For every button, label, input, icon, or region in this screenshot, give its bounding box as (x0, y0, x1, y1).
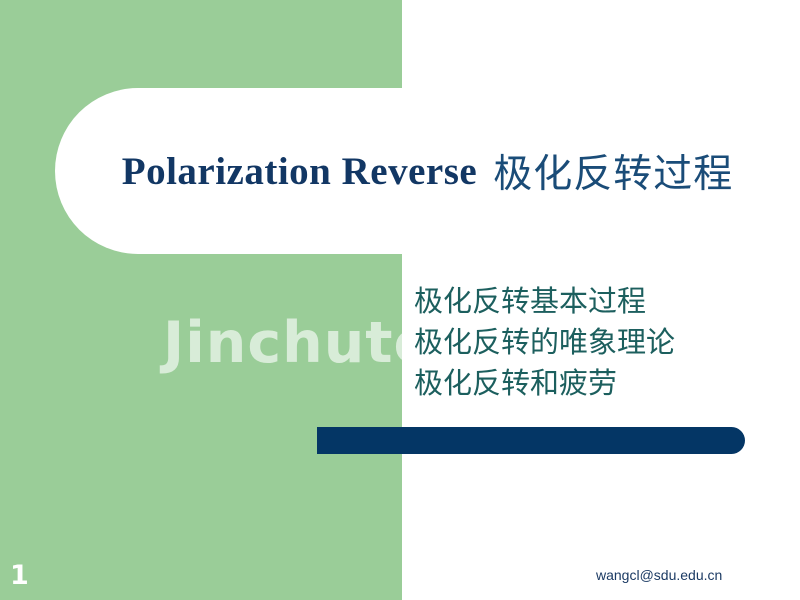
subtitle-line-1: 极化反转基本过程 (414, 281, 784, 322)
title-chinese: 极化反转过程 (493, 143, 733, 199)
subtitle-line-2: 极化反转的唯象理论 (414, 322, 784, 363)
page-title: Polarization Reverse 极化反转过程 (55, 88, 800, 254)
slide-number: 1 (10, 560, 29, 592)
title-english: Polarization Reverse (122, 149, 477, 194)
decorative-blue-bar (317, 427, 745, 454)
footer-email: wangcl@sdu.edu.cn (596, 566, 722, 584)
slide-canvas: Jinchutou.com Polarization Reverse 极化反转过… (0, 0, 800, 600)
subtitle-line-3: 极化反转和疲劳 (414, 363, 784, 404)
subtitle-list: 极化反转基本过程 极化反转的唯象理论 极化反转和疲劳 (414, 281, 784, 404)
